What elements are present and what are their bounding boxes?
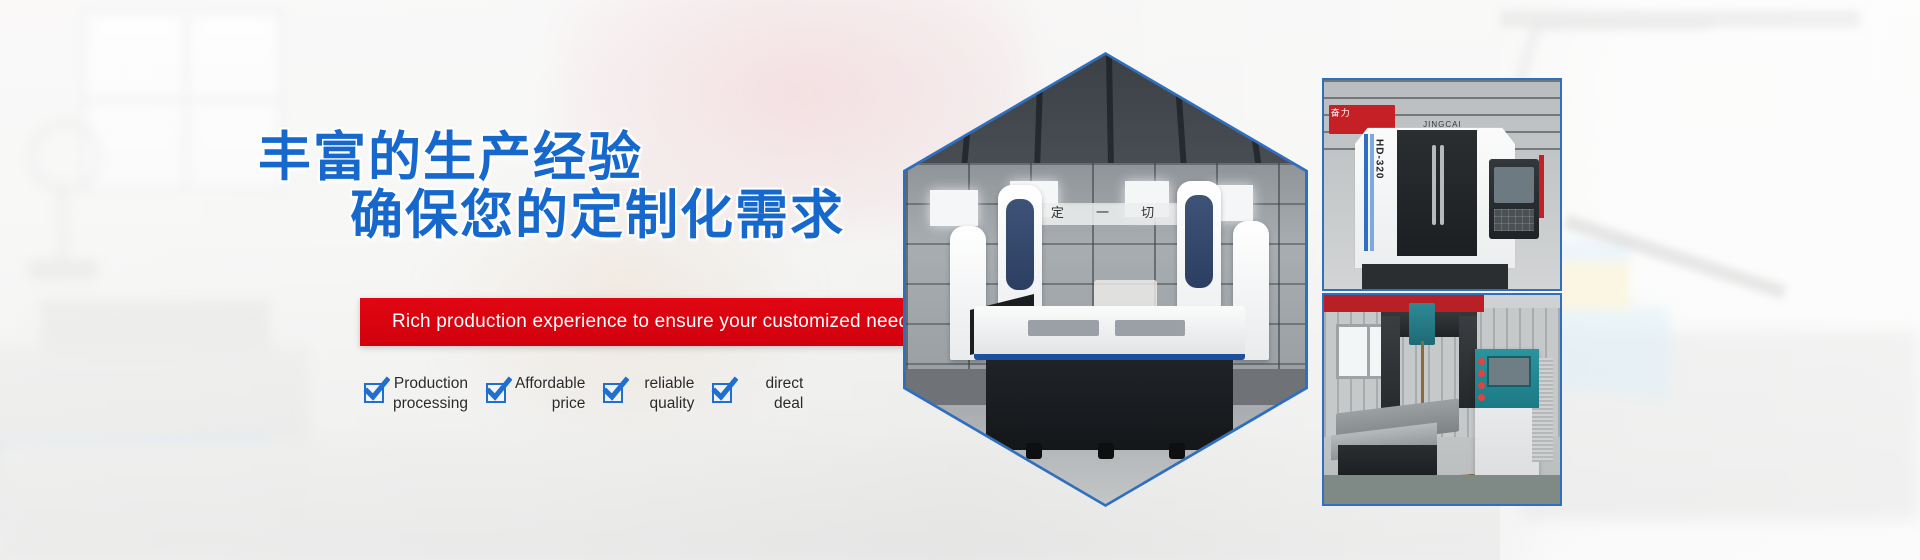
- photo-machine-foot: [1169, 443, 1185, 459]
- checkbox-checked-icon[interactable]: [712, 383, 732, 403]
- feature-label: Affordable price: [515, 374, 585, 414]
- photo-machine-foot: [1098, 443, 1114, 459]
- thumb1-model-label: HD-320: [1374, 139, 1385, 179]
- photo-window: [930, 190, 978, 226]
- thumb1-machine-door: [1397, 130, 1477, 255]
- thumb-edm-machine[interactable]: [1322, 293, 1562, 506]
- thumb-cnc-machining-center[interactable]: 奋力 JINGCAI HD-320: [1322, 78, 1562, 291]
- thumb1-plinth: [1362, 264, 1508, 289]
- thumbnail-list: 奋力 JINGCAI HD-320: [1322, 78, 1562, 506]
- photo-machine-bed: [974, 306, 1245, 360]
- checkbox-checked-icon[interactable]: [486, 383, 506, 403]
- promo-banner: 丰富的生产经验 确保您的定制化需求 Rich production experi…: [0, 0, 1920, 560]
- thumb1-control-panel: [1489, 159, 1539, 238]
- thumb2-floor: [1324, 475, 1560, 504]
- headline-line-1: 丰富的生产经验: [0, 128, 845, 186]
- thumb1-brand-label: JINGCAI: [1423, 120, 1462, 129]
- feature-list: Production processing Affordable price r…: [364, 374, 803, 414]
- subtitle-text: Rich production experience to ensure you…: [360, 311, 919, 333]
- thumb2-wall-banner: [1324, 295, 1484, 312]
- feature-item[interactable]: Production processing: [364, 374, 468, 414]
- hexagon-factory-photo: 定 一 切: [906, 55, 1305, 504]
- feature-item[interactable]: direct deal: [712, 374, 803, 414]
- thumb2-spindle-head: [1409, 303, 1435, 345]
- subtitle-red-bar: Rich production experience to ensure you…: [360, 298, 908, 346]
- thumb1-stripe: [1364, 134, 1368, 251]
- checkbox-checked-icon[interactable]: [603, 383, 623, 403]
- checkbox-checked-icon[interactable]: [364, 383, 384, 403]
- thumb1-wall-banner-text: 奋力: [1329, 105, 1395, 119]
- headline-line-2: 确保您的定制化需求: [0, 186, 845, 244]
- photo-wall-banner: 定 一 切: [1026, 203, 1194, 225]
- feature-item[interactable]: Affordable price: [486, 374, 585, 414]
- page-title: 丰富的生产经验 确保您的定制化需求: [0, 128, 845, 245]
- thumb2-control-panel: [1475, 349, 1539, 408]
- feature-label: reliable quality: [632, 374, 694, 414]
- hero-hexagon[interactable]: 定 一 切: [903, 52, 1308, 507]
- feature-item[interactable]: reliable quality: [603, 374, 694, 414]
- photo-machine-foot: [1026, 443, 1042, 459]
- thumb1-red-accent: [1539, 155, 1544, 218]
- feature-label: Production processing: [393, 374, 468, 414]
- feature-label: direct deal: [741, 374, 803, 414]
